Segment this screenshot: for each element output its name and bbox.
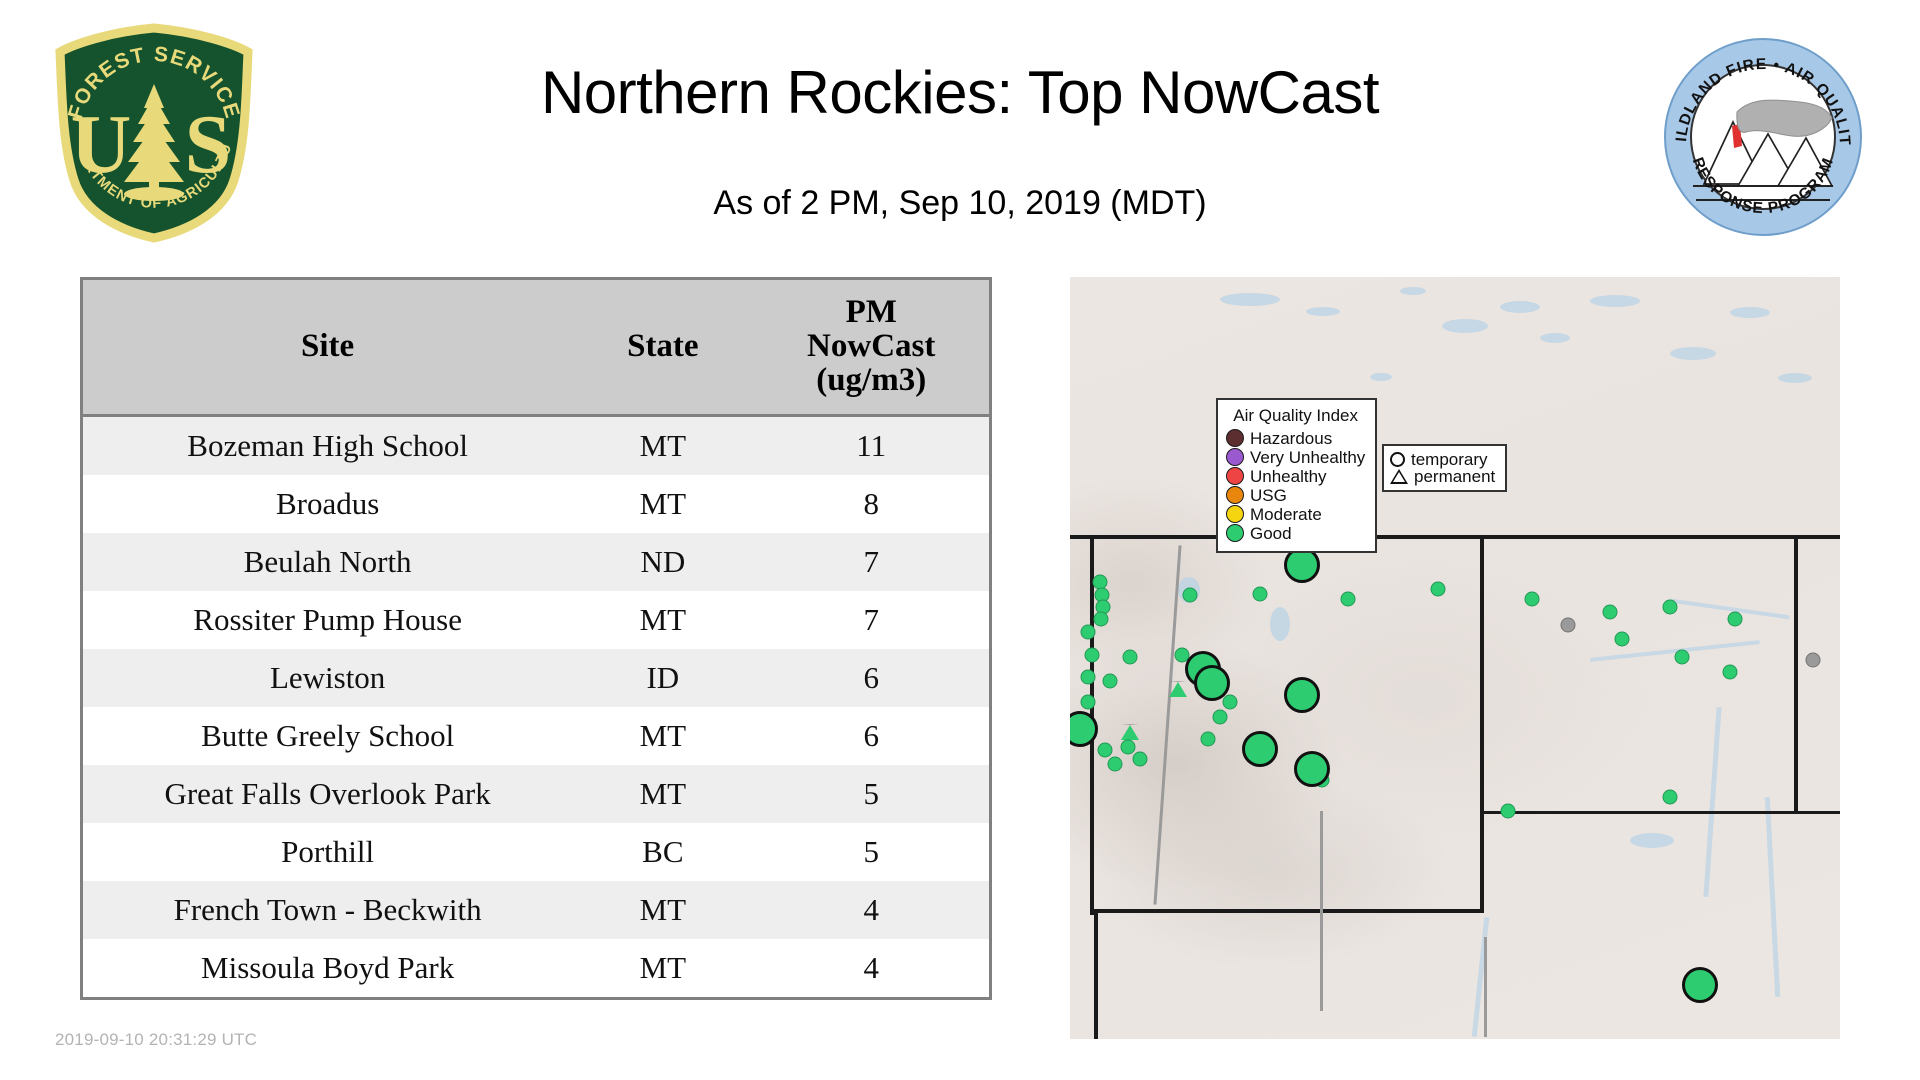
monitor-marker[interactable] xyxy=(1085,648,1100,663)
site-state: MT xyxy=(572,707,753,765)
site-state: ID xyxy=(572,649,753,707)
site-name: Butte Greely School xyxy=(83,707,572,765)
map-water-body xyxy=(1730,307,1770,318)
site-pm-nowcast-value: 6 xyxy=(753,707,989,765)
site-state: MT xyxy=(572,591,753,649)
table-header: Site State PM NowCast (ug/m3) xyxy=(83,280,989,416)
table-row: LewistonID6 xyxy=(83,649,989,707)
aqi-legend-label: Good xyxy=(1250,525,1292,542)
table-row: Rossiter Pump HouseMT7 xyxy=(83,591,989,649)
page-title: Northern Rockies: Top NowCast xyxy=(0,58,1920,127)
monitor-marker-highlighted[interactable] xyxy=(1242,731,1278,767)
monitor-marker[interactable] xyxy=(1081,625,1096,640)
table-row: Great Falls Overlook ParkMT5 xyxy=(83,765,989,823)
map-boundary-wy-west xyxy=(1094,913,1098,1039)
monitor-marker[interactable] xyxy=(1561,618,1576,633)
site-name: Broadus xyxy=(83,475,572,533)
monitor-marker[interactable] xyxy=(1133,752,1148,767)
site-name: Bozeman High School xyxy=(83,416,572,476)
circle-outline-icon xyxy=(1390,452,1405,467)
monitor-marker[interactable] xyxy=(1098,743,1113,758)
footer-timestamp: 2019-09-10 20:31:29 UTC xyxy=(55,1030,257,1050)
aqi-legend-item: Good xyxy=(1226,524,1365,542)
monitor-marker[interactable] xyxy=(1081,670,1096,685)
map-boundary-nd-east xyxy=(1794,539,1798,811)
aqi-legend-item: Moderate xyxy=(1226,505,1365,523)
monitor-marker[interactable] xyxy=(1806,653,1821,668)
map-water-body xyxy=(1500,301,1540,313)
map-water-body xyxy=(1590,295,1640,307)
map-water-body xyxy=(1540,333,1570,343)
map-boundary-usa-canada xyxy=(1070,535,1840,539)
table-body: Bozeman High SchoolMT11BroadusMT8Beulah … xyxy=(83,416,989,998)
table-row: Beulah NorthND7 xyxy=(83,533,989,591)
aqi-swatch-icon xyxy=(1226,429,1244,447)
page-subtitle: As of 2 PM, Sep 10, 2019 (MDT) xyxy=(0,184,1920,223)
triangle-outline-icon xyxy=(1390,469,1408,484)
aqi-legend-label: Unhealthy xyxy=(1250,468,1327,485)
map-water-body xyxy=(1400,287,1426,295)
site-name: Missoula Boyd Park xyxy=(83,939,572,997)
aqi-legend-label: Moderate xyxy=(1250,506,1322,523)
monitor-marker-highlighted[interactable] xyxy=(1284,677,1320,713)
site-type-temporary-label: temporary xyxy=(1411,451,1488,468)
aqi-swatch-icon xyxy=(1226,467,1244,485)
nowcast-table: Site State PM NowCast (ug/m3) Bozeman Hi… xyxy=(83,280,989,997)
monitor-marker-highlighted[interactable] xyxy=(1682,967,1718,1003)
site-name: Beulah North xyxy=(83,533,572,591)
site-type-legend: temporary permanent xyxy=(1382,444,1507,492)
column-header-site: Site xyxy=(83,280,572,416)
table-row: Bozeman High SchoolMT11 xyxy=(83,416,989,476)
map-water-body xyxy=(1270,607,1290,641)
site-pm-nowcast-value: 8 xyxy=(753,475,989,533)
site-name: French Town - Beckwith xyxy=(83,881,572,939)
aqi-legend-item: Unhealthy xyxy=(1226,467,1365,485)
monitor-marker[interactable] xyxy=(1121,740,1136,755)
site-pm-nowcast-value: 6 xyxy=(753,649,989,707)
aqi-legend-item: Hazardous xyxy=(1226,429,1365,447)
nowcast-table-container: Site State PM NowCast (ug/m3) Bozeman Hi… xyxy=(80,277,992,1000)
site-state: MT xyxy=(572,939,753,997)
monitor-marker[interactable] xyxy=(1603,605,1618,620)
monitor-marker[interactable] xyxy=(1675,650,1690,665)
table-header-row: Site State PM NowCast (ug/m3) xyxy=(83,280,989,416)
map-boundary-sd-internal xyxy=(1484,937,1487,1037)
map-water-body xyxy=(1630,833,1674,848)
monitor-marker[interactable] xyxy=(1525,592,1540,607)
site-state: MT xyxy=(572,881,753,939)
air-quality-map[interactable]: Air Quality Index HazardousVery Unhealth… xyxy=(1070,277,1840,1039)
map-boundary-mt-south xyxy=(1090,909,1484,913)
site-type-permanent: permanent xyxy=(1390,468,1495,485)
map-water-body xyxy=(1306,307,1340,316)
site-state: MT xyxy=(572,475,753,533)
monitor-marker[interactable] xyxy=(1615,632,1630,647)
monitor-marker-highlighted[interactable] xyxy=(1294,751,1330,787)
site-state: BC xyxy=(572,823,753,881)
table-row: PorthillBC5 xyxy=(83,823,989,881)
site-type-permanent-label: permanent xyxy=(1414,468,1495,485)
monitor-marker[interactable] xyxy=(1341,592,1356,607)
site-type-temporary: temporary xyxy=(1390,451,1495,468)
monitor-marker[interactable] xyxy=(1201,732,1216,747)
aqi-legend-item: USG xyxy=(1226,486,1365,504)
monitor-marker[interactable] xyxy=(1213,710,1228,725)
monitor-marker[interactable] xyxy=(1501,804,1516,819)
monitor-marker-highlighted[interactable] xyxy=(1194,665,1230,701)
aqi-swatch-icon xyxy=(1226,524,1244,542)
aqi-swatch-icon xyxy=(1226,505,1244,523)
site-state: MT xyxy=(572,416,753,476)
monitor-marker[interactable] xyxy=(1121,724,1139,740)
monitor-marker[interactable] xyxy=(1663,600,1678,615)
column-header-state: State xyxy=(572,280,753,416)
table-row: French Town - BeckwithMT4 xyxy=(83,881,989,939)
monitor-marker[interactable] xyxy=(1183,588,1198,603)
column-header-pm-line1: PM xyxy=(846,294,897,330)
aqi-swatch-icon xyxy=(1226,448,1244,466)
monitor-marker[interactable] xyxy=(1431,582,1446,597)
table-row: Missoula Boyd ParkMT4 xyxy=(83,939,989,997)
monitor-marker[interactable] xyxy=(1223,695,1238,710)
monitor-marker[interactable] xyxy=(1123,650,1138,665)
site-pm-nowcast-value: 4 xyxy=(753,939,989,997)
monitor-marker[interactable] xyxy=(1103,674,1118,689)
map-water-body xyxy=(1442,319,1488,333)
map-boundary-county xyxy=(1320,811,1323,1011)
map-water-body xyxy=(1670,347,1716,360)
monitor-marker[interactable] xyxy=(1663,790,1678,805)
map-water-body xyxy=(1370,373,1392,381)
site-pm-nowcast-value: 11 xyxy=(753,416,989,476)
site-pm-nowcast-value: 7 xyxy=(753,533,989,591)
monitor-marker[interactable] xyxy=(1723,665,1738,680)
aqi-legend-label: USG xyxy=(1250,487,1287,504)
site-pm-nowcast-value: 5 xyxy=(753,823,989,881)
monitor-marker[interactable] xyxy=(1728,612,1743,627)
aqi-legend-label: Very Unhealthy xyxy=(1250,449,1365,466)
table-row: Butte Greely SchoolMT6 xyxy=(83,707,989,765)
site-state: ND xyxy=(572,533,753,591)
monitor-marker[interactable] xyxy=(1253,587,1268,602)
monitor-marker[interactable] xyxy=(1094,612,1109,627)
map-water-body xyxy=(1778,373,1812,383)
site-name: Lewiston xyxy=(83,649,572,707)
site-pm-nowcast-value: 4 xyxy=(753,881,989,939)
map-water-body xyxy=(1220,293,1280,306)
site-name: Great Falls Overlook Park xyxy=(83,765,572,823)
column-header-pm-line2: NowCast xyxy=(807,328,935,364)
column-header-pm-nowcast: PM NowCast (ug/m3) xyxy=(753,280,989,416)
monitor-marker[interactable] xyxy=(1108,757,1123,772)
aqi-legend-title: Air Quality Index xyxy=(1226,406,1365,426)
map-boundary-mt-nd xyxy=(1480,535,1484,913)
table-row: BroadusMT8 xyxy=(83,475,989,533)
site-state: MT xyxy=(572,765,753,823)
monitor-marker[interactable] xyxy=(1169,681,1187,697)
column-header-pm-line3: (ug/m3) xyxy=(816,362,926,398)
aqi-legend-label: Hazardous xyxy=(1250,430,1332,447)
site-name: Porthill xyxy=(83,823,572,881)
map-boundary-nd-sd xyxy=(1480,811,1840,814)
aqi-legend-items: HazardousVery UnhealthyUnhealthyUSGModer… xyxy=(1226,429,1365,542)
site-pm-nowcast-value: 7 xyxy=(753,591,989,649)
aqi-legend: Air Quality Index HazardousVery Unhealth… xyxy=(1216,398,1377,553)
monitor-marker[interactable] xyxy=(1081,695,1096,710)
site-pm-nowcast-value: 5 xyxy=(753,765,989,823)
site-name: Rossiter Pump House xyxy=(83,591,572,649)
aqi-legend-item: Very Unhealthy xyxy=(1226,448,1365,466)
aqi-swatch-icon xyxy=(1226,486,1244,504)
